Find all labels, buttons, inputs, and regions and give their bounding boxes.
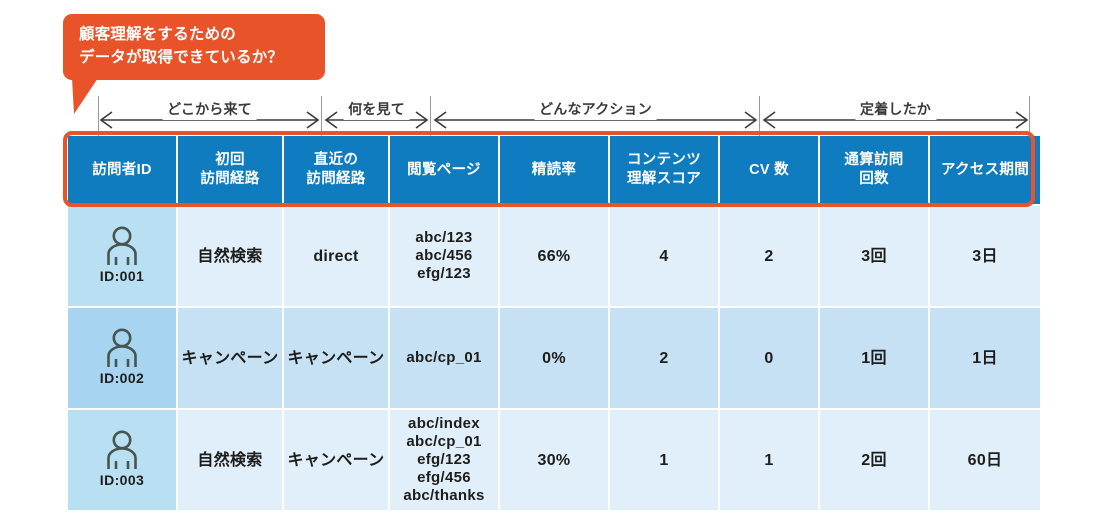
cell-first-path: 自然検索 [178,206,284,308]
cell-recent-path: direct [284,206,390,308]
scale-tick [321,96,322,136]
cell-read-rate: 30% [500,410,610,510]
table-header-row: 訪問者ID 初回 訪問経路 直近の 訪問経路 閲覧ページ 精読率 コンテンツ 理… [68,136,1040,206]
person-icon [103,328,141,368]
scale-group-1: 何を見て [323,96,430,132]
column-header-pages: 閲覧ページ [390,136,500,206]
infographic-table-figure: 顧客理解をするための データが取得できているか？ どこから来て 何を見て [0,0,1098,516]
cell-read-rate: 66% [500,206,610,308]
scale-group-label: 何を見て [343,98,410,120]
visitor-identity: ID:001 [69,226,175,286]
scale-group-label: 定着したか [855,98,936,120]
scale-tick [430,96,431,136]
callout-tail-icon [72,78,98,114]
scale-group-2: どんなアクション [432,96,759,132]
cell-content-score: 1 [610,410,720,510]
cell-cv-count: 0 [720,308,820,410]
visitor-id-label: ID:001 [100,267,144,286]
column-header-read-rate: 精読率 [500,136,610,206]
table-row: ID:002 キャンペーン キャンペーン abc/cp_01 0% 2 0 1回… [68,308,1040,410]
cell-first-path: キャンペーン [178,308,284,410]
cell-cv-count: 2 [720,206,820,308]
visitor-id-label: ID:002 [100,369,144,388]
column-header-recent-path: 直近の 訪問経路 [284,136,390,206]
table: 訪問者ID 初回 訪問経路 直近の 訪問経路 閲覧ページ 精読率 コンテンツ 理… [68,136,1040,510]
callout-text: 顧客理解をするための データが取得できているか？ [79,23,319,69]
cell-cv-count: 1 [720,410,820,510]
scale-group-label: どんなアクション [534,98,657,120]
scale-tick [759,96,760,136]
table-row: ID:003 自然検索 キャンペーン abc/index abc/cp_01 e… [68,410,1040,510]
column-header-visitor-id: 訪問者ID [68,136,178,206]
column-header-first-path: 初回 訪問経路 [178,136,284,206]
scale-group-label: どこから来て [162,98,257,120]
person-icon [103,226,141,266]
cell-content-score: 2 [610,308,720,410]
column-header-access-period: アクセス期間 [930,136,1040,206]
cell-access-period: 1日 [930,308,1040,410]
scale-group-3: 定着したか [761,96,1030,132]
column-header-content-score: コンテンツ 理解スコア [610,136,720,206]
visitor-id-cell: ID:001 [68,206,178,308]
cell-pages: abc/123 abc/456 efg/123 [390,206,500,308]
visitor-identity: ID:002 [69,328,175,388]
person-icon [103,430,141,470]
cell-first-path: 自然検索 [178,410,284,510]
cell-recent-path: キャンペーン [284,308,390,410]
cell-access-period: 3日 [930,206,1040,308]
cell-content-score: 4 [610,206,720,308]
column-header-visit-count: 通算訪問 回数 [820,136,930,206]
cell-pages: abc/index abc/cp_01 efg/123 efg/456 abc/… [390,410,500,510]
visitor-id-cell: ID:002 [68,308,178,410]
visitor-identity: ID:003 [69,430,175,490]
column-group-scale: どこから来て 何を見て どんなアクション 定着したか [68,96,1030,136]
column-header-cv-count: CV 数 [720,136,820,206]
scale-group-0: どこから来て [98,96,321,132]
visitor-data-table: 訪問者ID 初回 訪問経路 直近の 訪問経路 閲覧ページ 精読率 コンテンツ 理… [68,136,1030,510]
cell-visit-count: 1回 [820,308,930,410]
cell-visit-count: 2回 [820,410,930,510]
table-row: ID:001 自然検索 direct abc/123 abc/456 efg/1… [68,206,1040,308]
visitor-id-cell: ID:003 [68,410,178,510]
visitor-id-label: ID:003 [100,471,144,490]
cell-access-period: 60日 [930,410,1040,510]
callout-bubble: 顧客理解をするための データが取得できているか？ [63,14,325,80]
cell-visit-count: 3回 [820,206,930,308]
cell-pages: abc/cp_01 [390,308,500,410]
cell-read-rate: 0% [500,308,610,410]
cell-recent-path: キャンペーン [284,410,390,510]
